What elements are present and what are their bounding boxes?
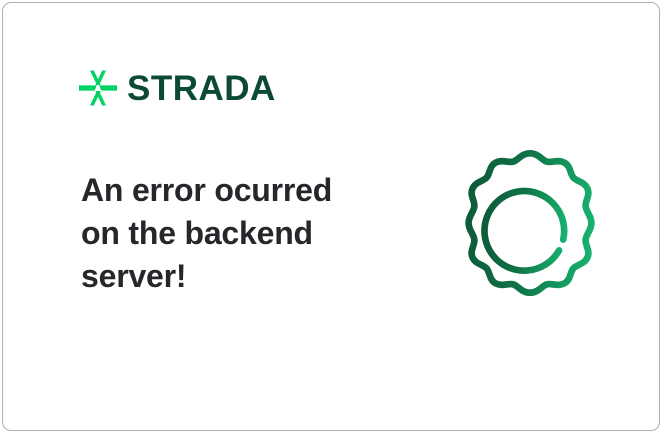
error-message: An error ocurred on the backend server! bbox=[81, 169, 371, 298]
gear-cog-icon bbox=[447, 137, 613, 309]
strada-asterisk-icon bbox=[79, 69, 117, 107]
error-card: STRADA An error ocurred on the backend s… bbox=[2, 2, 660, 431]
brand-logo: STRADA bbox=[79, 69, 276, 107]
brand-wordmark: STRADA bbox=[127, 71, 276, 106]
